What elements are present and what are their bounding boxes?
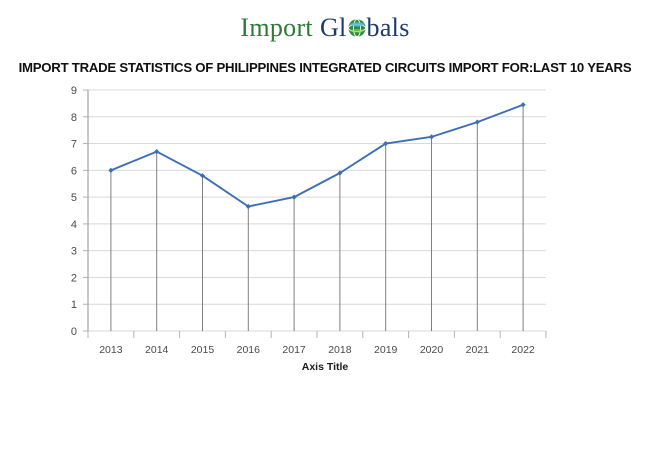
globe-icon [347, 17, 367, 37]
logo-text-gl: Gl [320, 15, 347, 41]
series-polyline [111, 105, 523, 207]
logo-text-import: Import [240, 15, 313, 41]
logo-text-bals: bals [367, 15, 410, 41]
x-tick-label: 2019 [374, 344, 398, 356]
y-tick-label: 1 [71, 299, 77, 311]
y-tick-label: 5 [71, 192, 77, 204]
category-tick-marks [88, 331, 546, 338]
y-tick-label: 8 [71, 112, 77, 124]
y-tick-label: 0 [71, 326, 77, 338]
data-point-marker[interactable] [108, 168, 113, 173]
x-tick-label: 2015 [191, 344, 215, 356]
y-tick-marks [83, 90, 88, 331]
y-tick-label: 6 [71, 165, 77, 177]
x-tick-label: 2021 [466, 344, 490, 356]
y-tick-label: 3 [71, 246, 77, 258]
import-globals-logo: Import Gl bals [240, 15, 409, 41]
brand-logo-bar: Import Gl bals [0, 0, 650, 56]
data-point-marker[interactable] [521, 102, 526, 107]
y-axis-tick-labels: 0123456789 [71, 85, 77, 338]
x-axis-title: Axis Title [0, 361, 650, 373]
chart-svg: 0123456789 20132014201520162017201820192… [0, 81, 650, 381]
y-tick-label: 7 [71, 139, 77, 151]
x-tick-label: 2018 [328, 344, 352, 356]
x-tick-label: 2020 [420, 344, 444, 356]
x-tick-label: 2013 [99, 344, 123, 356]
page-title: IMPORT TRADE STATISTICS OF PHILIPPINES I… [0, 60, 650, 75]
y-tick-label: 2 [71, 272, 77, 284]
y-tick-label: 4 [71, 219, 77, 231]
x-tick-label: 2017 [282, 344, 306, 356]
drop-lines [111, 105, 523, 331]
data-point-marker[interactable] [475, 120, 480, 125]
data-point-markers [108, 102, 525, 209]
data-series-line [111, 105, 523, 207]
x-tick-label: 2014 [145, 344, 169, 356]
data-point-marker[interactable] [429, 134, 434, 139]
x-tick-label: 2022 [511, 344, 535, 356]
x-tick-label: 2016 [237, 344, 261, 356]
line-chart: 0123456789 20132014201520162017201820192… [0, 81, 650, 441]
y-tick-label: 9 [71, 85, 77, 97]
x-axis-tick-labels: 2013201420152016201720182019202020212022 [99, 344, 535, 356]
